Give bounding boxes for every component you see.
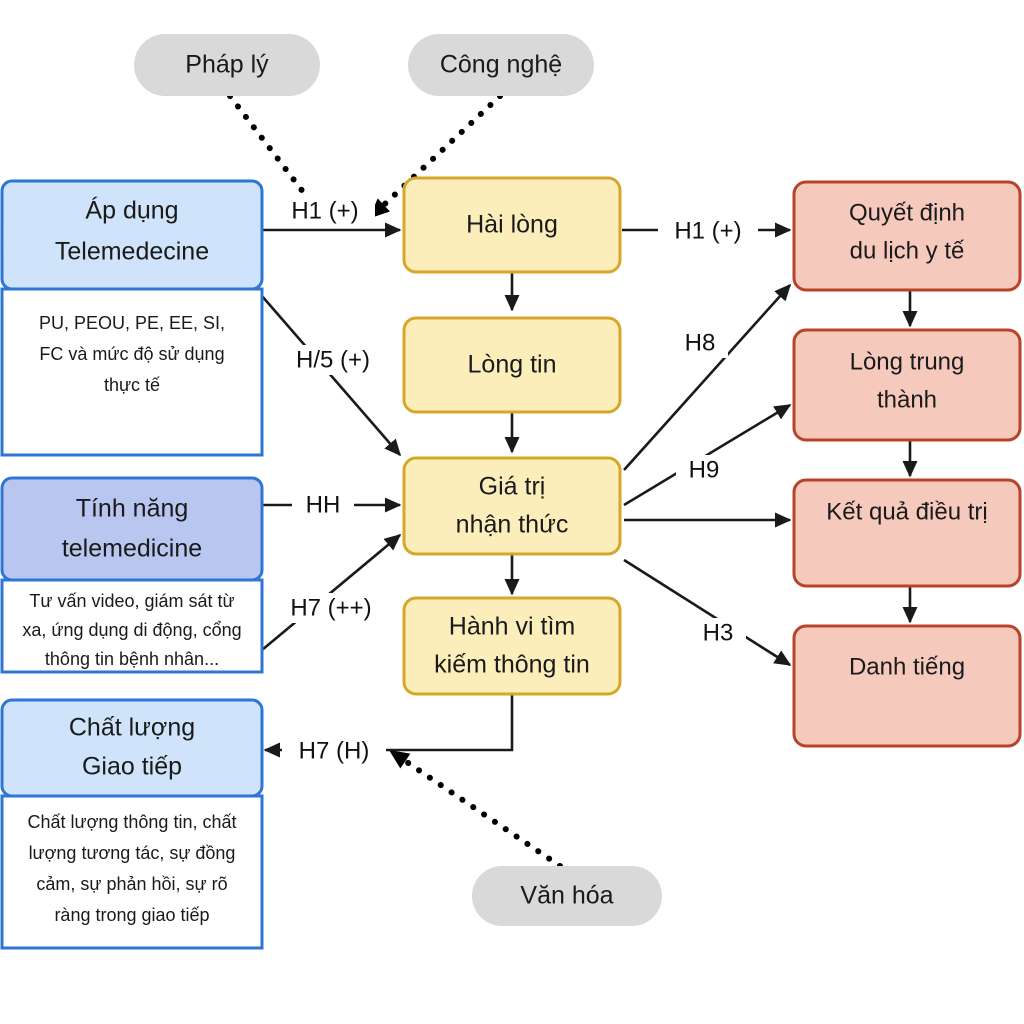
edge-label-h1-plus-right: H1 (+)	[658, 216, 758, 246]
edge-label-h9-text: H9	[689, 456, 720, 483]
node-tinh-nang-desc-line3: thông tin bệnh nhân...	[45, 649, 219, 669]
node-chat-luong-desc-line4: ràng trong giao tiếp	[54, 905, 209, 925]
bubble-phap-ly[interactable]: Pháp lý	[134, 34, 320, 96]
node-hanh-vi-line2: kiếm thông tin	[434, 651, 590, 679]
node-long-tin-label: Lòng tin	[468, 351, 557, 379]
node-long-trung-thanh-line1: Lòng trung	[850, 348, 965, 375]
edge-label-h8: H8	[672, 328, 728, 358]
node-tinh-nang-title-line2: telemedicine	[62, 535, 202, 563]
bubble-cong-nghe[interactable]: Công nghệ	[408, 34, 594, 96]
edge-label-h7-plusplus-text: H7 (++)	[290, 594, 371, 621]
edge-label-hh: HH	[292, 490, 354, 520]
node-chat-luong-giao-tiep[interactable]: Chất lượng Giao tiếp Chất lượng thông ti…	[2, 700, 262, 948]
node-ap-dung-desc-line1: PU, PEOU, PE, EE, SI,	[39, 313, 225, 333]
node-quyet-dinh-line1: Quyết định	[849, 199, 965, 226]
node-chat-luong-title-line2: Giao tiếp	[82, 753, 182, 781]
node-tinh-nang-title-line1: Tính năng	[76, 495, 189, 523]
edge-hanhvi-elbow	[392, 694, 512, 750]
node-long-tin[interactable]: Lòng tin	[404, 318, 620, 412]
node-gia-tri-line2: nhận thức	[456, 511, 569, 539]
edge-vanhoa-to-hanhvi	[392, 752, 560, 866]
node-ap-dung-desc-line2: FC và mức độ sử dụng	[39, 344, 224, 364]
bubble-van-hoa[interactable]: Văn hóa	[472, 866, 662, 926]
node-long-trung-thanh-line2: thành	[877, 386, 937, 413]
node-hanh-vi-tim-kiem-thong-tin[interactable]: Hành vi tìm kiếm thông tin	[404, 598, 620, 694]
node-long-trung-thanh[interactable]: Lòng trung thành	[794, 330, 1020, 440]
edge-apdung-to-giatri	[262, 296, 400, 455]
bubble-phap-ly-label: Pháp lý	[185, 51, 269, 79]
node-hanh-vi-line1: Hành vi tìm	[449, 613, 575, 641]
edge-label-h3-text: H3	[703, 619, 734, 646]
edge-label-h5-plus: H/5 (+)	[278, 345, 388, 375]
node-ap-dung-title-line1: Áp dụng	[85, 196, 178, 225]
node-gia-tri-nhan-thuc[interactable]: Giá trị nhận thức	[404, 458, 620, 554]
node-gia-tri-line1: Giá trị	[479, 473, 546, 501]
edge-label-hh-text: HH	[306, 491, 341, 518]
node-ap-dung-telemedecine[interactable]: Áp dụng Telemedecine PU, PEOU, PE, EE, S…	[2, 181, 262, 455]
edge-label-h1-plus-left: H1 (+)	[275, 196, 375, 226]
edge-label-h7-plusplus: H7 (++)	[272, 593, 390, 623]
edge-label-h7-h-text: H7 (H)	[299, 737, 370, 764]
node-ap-dung-title-line2: Telemedecine	[55, 238, 209, 266]
node-hai-long-label: Hài lòng	[466, 211, 558, 239]
node-ket-qua-dieu-tri[interactable]: Kết quả điều trị	[794, 480, 1020, 586]
node-tinh-nang-desc-line1: Tư vấn video, giám sát từ	[29, 591, 234, 611]
edge-label-h7-h: H7 (H)	[282, 736, 386, 766]
edge-label-h9: H9	[676, 455, 732, 485]
node-danh-tieng[interactable]: Danh tiếng	[794, 626, 1020, 746]
node-danh-tieng-label: Danh tiếng	[849, 653, 965, 680]
bubble-van-hoa-label: Văn hóa	[520, 882, 613, 910]
node-quyet-dinh-du-lich-y-te[interactable]: Quyết định du lịch y tế	[794, 182, 1020, 290]
node-hai-long[interactable]: Hài lòng	[404, 178, 620, 272]
node-tinh-nang-telemedicine[interactable]: Tính năng telemedicine Tư vấn video, giá…	[2, 478, 262, 672]
edge-label-h1-plus-right-text: H1 (+)	[674, 217, 741, 244]
node-chat-luong-title-line1: Chất lượng	[69, 714, 195, 742]
edge-tinhnangdesc-to-giatri	[262, 535, 400, 650]
node-chat-luong-desc-line3: cảm, sự phản hồi, sự rõ	[36, 874, 227, 894]
diagram-canvas: Pháp lý Công nghệ Văn hóa Áp dụng Teleme…	[0, 0, 1024, 1024]
node-chat-luong-desc-line1: Chất lượng thông tin, chất	[28, 812, 237, 832]
edge-label-h3: H3	[690, 618, 746, 648]
edge-label-h1-plus-left-text: H1 (+)	[291, 197, 358, 224]
edge-giatri-to-quyetdinh	[624, 285, 790, 470]
edge-label-h8-text: H8	[685, 329, 716, 356]
node-quyet-dinh-line2: du lịch y tế	[850, 237, 965, 264]
edge-giatri-to-danhtieng	[624, 560, 790, 665]
node-chat-luong-desc-line2: lượng tương tác, sự đồng	[29, 843, 236, 863]
flowchart-diagram: Pháp lý Công nghệ Văn hóa Áp dụng Teleme…	[0, 0, 1024, 1024]
bubble-cong-nghe-label: Công nghệ	[440, 51, 562, 79]
node-ket-qua-dieu-tri-label: Kết quả điều trị	[826, 498, 987, 525]
edge-label-h5-plus-text: H/5 (+)	[296, 346, 370, 373]
node-ap-dung-desc-line3: thực tế	[104, 375, 160, 395]
node-tinh-nang-desc-line2: xa, ứng dụng di động, cổng	[22, 620, 241, 640]
